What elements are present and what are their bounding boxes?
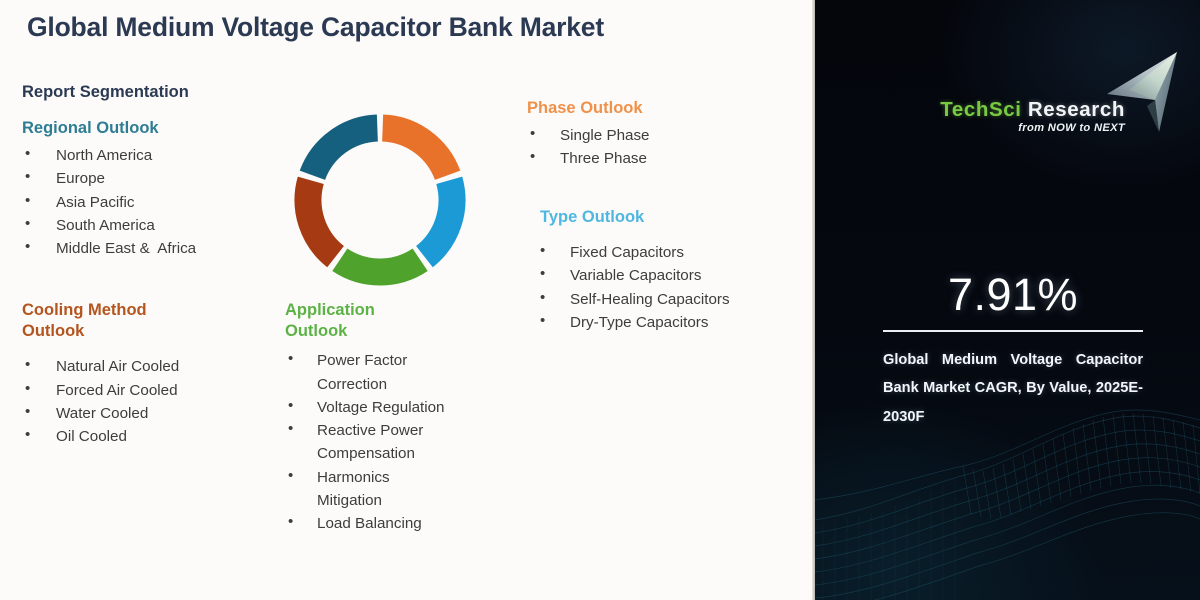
list-item: Oil Cooled (22, 425, 179, 448)
list-item: Voltage Regulation (285, 396, 445, 419)
donut-segment (340, 260, 420, 272)
type-outlook-block: Type Outlook Fixed Capacitors Variable C… (540, 207, 730, 334)
regional-outlook-list: North America Europe Asia Pacific South … (22, 144, 196, 260)
brand-tagline: from NOW to NEXT (873, 122, 1125, 134)
application-outlook-list: Power Factor Correction Voltage Regulati… (285, 349, 445, 535)
list-item: Asia Pacific (22, 191, 196, 214)
list-item: Single Phase (527, 124, 650, 147)
list-item: South America (22, 214, 196, 237)
list-item: Power Factor (285, 349, 445, 372)
list-item: Reactive Power (285, 419, 445, 442)
list-item: Self-Healing Capacitors (526, 288, 730, 311)
content-panel: Global Medium Voltage Capacitor Bank Mar… (0, 0, 815, 600)
donut-segment (308, 180, 336, 256)
list-item-continuation: Mitigation (285, 489, 445, 512)
cagr-divider (883, 330, 1143, 332)
cooling-method-outlook-heading: Cooling Method Outlook (22, 300, 179, 341)
donut-segment (383, 128, 448, 175)
cagr-block: 7.91% Global Medium Voltage Capacitor Ba… (883, 272, 1143, 431)
brand-name-part-1: TechSci (940, 98, 1021, 121)
list-item: Europe (22, 167, 196, 190)
regional-outlook-heading: Regional Outlook (22, 118, 196, 138)
list-item-continuation: Compensation (285, 442, 445, 465)
report-segmentation-label-block: Report Segmentation (22, 82, 189, 108)
infographic-root: Global Medium Voltage Capacitor Bank Mar… (0, 0, 1200, 600)
list-item: Forced Air Cooled (22, 379, 179, 402)
application-heading-line-2: Outlook (285, 321, 445, 342)
cooling-heading-line-1: Cooling Method (22, 300, 179, 321)
phase-outlook-list: Single Phase Three Phase (527, 124, 650, 171)
cooling-heading-line-2: Outlook (22, 321, 179, 342)
page-title: Global Medium Voltage Capacitor Bank Mar… (27, 12, 604, 43)
phase-outlook-block: Phase Outlook Single Phase Three Phase (527, 98, 650, 171)
list-item: Dry-Type Capacitors (526, 311, 730, 334)
type-outlook-heading: Type Outlook (540, 207, 730, 227)
application-outlook-block: Application Outlook Power Factor Correct… (285, 300, 445, 535)
list-item: Load Balancing (285, 512, 445, 535)
cagr-value: 7.91% (883, 272, 1143, 317)
application-heading-line-1: Application (285, 300, 445, 321)
cooling-method-outlook-block: Cooling Method Outlook Natural Air Coole… (22, 300, 179, 448)
regional-outlook-block: Regional Outlook North America Europe As… (22, 118, 196, 260)
list-item: Harmonics (285, 466, 445, 489)
list-item: North America (22, 144, 196, 167)
donut-segment (312, 128, 377, 175)
donut-segment (424, 180, 452, 256)
cooling-method-outlook-list: Natural Air Cooled Forced Air Cooled Wat… (22, 355, 179, 448)
brand-name: TechSci Research (873, 98, 1125, 122)
list-item: Variable Capacitors (526, 264, 730, 287)
list-item: Three Phase (527, 147, 650, 170)
application-outlook-heading: Application Outlook (285, 300, 445, 341)
list-item-continuation: Correction (285, 373, 445, 396)
cagr-description: Global Medium Voltage Capacitor Bank Mar… (883, 346, 1143, 431)
phase-outlook-heading: Phase Outlook (527, 98, 650, 118)
brand-name-part-2: Research (1022, 98, 1125, 121)
list-item: Fixed Capacitors (526, 241, 730, 264)
list-item: Water Cooled (22, 402, 179, 425)
segmentation-donut-chart (288, 108, 472, 292)
list-item: Natural Air Cooled (22, 355, 179, 378)
donut-chart-svg (288, 108, 472, 292)
brand-logo: TechSci Research from NOW to NEXT (873, 72, 1173, 150)
brand-panel: TechSci Research from NOW to NEXT 7.91% … (815, 0, 1200, 600)
report-segmentation-label: Report Segmentation (22, 82, 189, 102)
list-item: Middle East & Africa (22, 237, 196, 260)
type-outlook-list: Fixed Capacitors Variable Capacitors Sel… (526, 241, 730, 334)
